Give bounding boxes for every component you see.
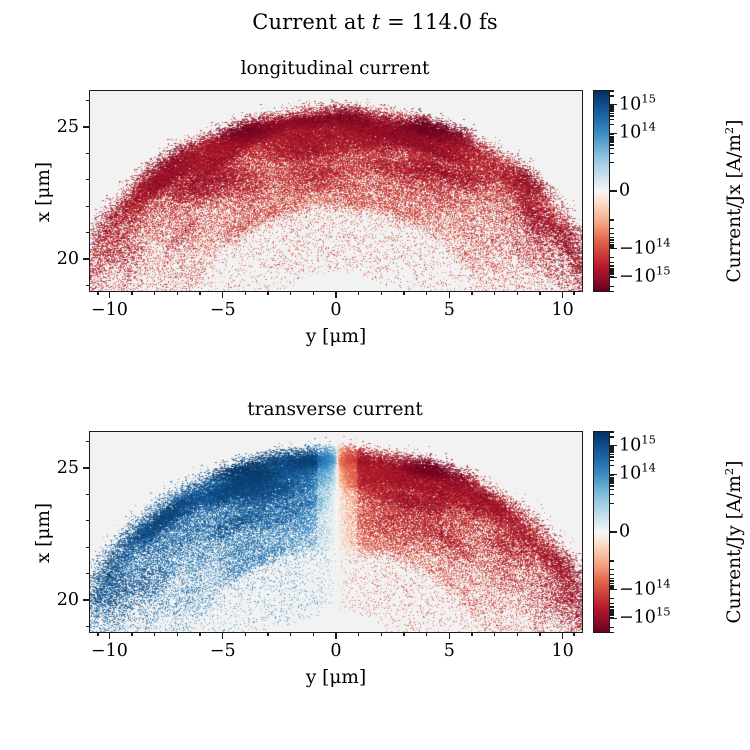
colorbar-tick-minor — [610, 107, 614, 108]
xtick-minor — [539, 292, 540, 295]
colorbar-tick-minor — [610, 291, 614, 292]
colorbar-tick-minor — [610, 480, 614, 481]
xtick-minor — [426, 292, 427, 295]
colorbar-tick-minor — [610, 436, 614, 437]
figure-canvas: Current at t = 114.0 fs longitudinal cur… — [0, 0, 750, 750]
colorbar-tick-major — [610, 589, 617, 590]
yaxis-label-longitudinal: x [μm] — [33, 132, 55, 252]
colorbar-tick-minor — [610, 162, 614, 163]
xtick-minor — [313, 292, 314, 295]
colorbar-tick-minor — [610, 446, 614, 447]
colorbar-tick-minor — [610, 489, 614, 490]
colorbar-longitudinal[interactable] — [593, 90, 610, 292]
xtick-minor — [426, 633, 427, 636]
colorbar-tick-minor — [610, 485, 614, 486]
colorbar-tick-minor — [610, 606, 614, 607]
xtick-minor — [131, 633, 132, 636]
colorbar-tick-minor — [610, 105, 614, 106]
xtick-major — [449, 292, 450, 298]
xtick-minor — [358, 633, 359, 636]
colorbar-tick-minor — [610, 144, 614, 145]
xtick-label: 5 — [444, 641, 455, 661]
xtick-label: −10 — [91, 641, 128, 661]
xtick-minor — [290, 292, 291, 295]
xaxis-label-longitudinal: y [μm] — [89, 326, 583, 348]
colorbar-tick-minor — [610, 477, 614, 478]
xtick-minor — [573, 633, 574, 636]
colorbar-tick-minor — [610, 137, 614, 138]
colorbar-tick-minor — [610, 139, 614, 140]
xtick-minor — [403, 633, 404, 636]
colorbar-tick-minor — [610, 239, 614, 240]
ytick-major — [83, 126, 89, 127]
xtick-minor — [154, 633, 155, 636]
colorbar-tick-minor — [610, 580, 614, 581]
colorbar-tick-minor — [610, 247, 614, 248]
ytick-minor — [86, 494, 89, 495]
colorbar-tick-label: 0 — [619, 182, 630, 201]
xtick-minor — [573, 292, 574, 295]
xtick-minor — [494, 633, 495, 636]
colorbar-tick-minor — [610, 482, 614, 483]
xtick-major — [562, 292, 563, 298]
colorbar-tick-label: −1015 — [619, 609, 671, 628]
xtick-major — [562, 633, 563, 639]
colorbar-tick-minor — [610, 578, 614, 579]
colorbar-tick-minor — [610, 90, 614, 91]
xtick-minor — [267, 633, 268, 636]
ytick-minor — [86, 547, 89, 548]
xtick-major — [109, 633, 110, 639]
xtick-minor — [131, 292, 132, 295]
colorbar-tick-minor — [610, 569, 614, 570]
xtick-label: 0 — [330, 641, 341, 661]
colorbar-tick-minor — [610, 598, 614, 599]
colorbar-tick-minor — [610, 456, 614, 457]
ytick-major — [83, 467, 89, 468]
xtick-minor — [177, 292, 178, 295]
xtick-label: −10 — [91, 300, 128, 320]
xtick-major — [335, 292, 336, 298]
colorbar-tick-major — [610, 248, 617, 249]
plot-area-transverse[interactable] — [89, 431, 583, 633]
panel-title-transverse: transverse current — [85, 399, 585, 421]
colorbar-tick-minor — [610, 465, 614, 466]
colorbar-tick-label: 1014 — [619, 124, 656, 143]
colorbar-tick-minor — [610, 228, 614, 229]
colorbar-tick-minor — [610, 257, 614, 258]
xtick-minor — [517, 633, 518, 636]
colorbar-tick-major — [610, 277, 617, 278]
ytick-minor — [86, 100, 89, 101]
xtick-minor — [381, 292, 382, 295]
colorbar-tick-label: 1015 — [619, 436, 656, 455]
colorbar-tick-label: 1014 — [619, 465, 656, 484]
colorbar-tick-major — [610, 190, 617, 191]
panel-title-longitudinal: longitudinal current — [85, 58, 585, 80]
colorbar-tick-label: −1015 — [619, 268, 671, 287]
xtick-minor — [154, 292, 155, 295]
colorbar-tick-minor — [610, 632, 614, 633]
xtick-label: −5 — [210, 300, 236, 320]
colorbar-tick-minor — [610, 431, 614, 432]
xtick-major — [449, 633, 450, 639]
colorbar-label-transverse: Current/Jy [A/m2] — [725, 447, 745, 637]
xtick-minor — [245, 292, 246, 295]
xtick-minor — [381, 633, 382, 636]
xtick-minor — [97, 633, 98, 636]
colorbar-tick-minor — [610, 141, 614, 142]
colorbar-tick-minor — [610, 95, 614, 96]
colorbar-tick-minor — [610, 265, 614, 266]
xtick-minor — [290, 633, 291, 636]
colorbar-tick-minor — [610, 617, 614, 618]
ytick-minor — [86, 285, 89, 286]
xtick-minor — [97, 292, 98, 295]
colorbar-tick-minor — [610, 219, 614, 220]
xtick-major — [222, 292, 223, 298]
xtick-minor — [358, 292, 359, 295]
colorbar-tick-minor — [610, 475, 614, 476]
xtick-label: 10 — [551, 641, 573, 661]
colorbar-tick-minor — [610, 115, 614, 116]
xtick-label: −5 — [210, 641, 236, 661]
colorbar-tick-label: −1014 — [619, 239, 671, 258]
colorbar-tick-minor — [610, 588, 614, 589]
colorbar-tick-minor — [610, 454, 614, 455]
colorbar-tick-minor — [610, 609, 614, 610]
xtick-minor — [177, 633, 178, 636]
suptitle-suffix: = 114.0 fs — [380, 10, 497, 34]
colorbar-label-longitudinal: Current/Jx [A/m2] — [725, 106, 745, 296]
ytick-minor — [86, 520, 89, 521]
colorbar-tick-minor — [610, 560, 614, 561]
ytick-minor — [86, 179, 89, 180]
xtick-minor — [471, 633, 472, 636]
colorbar-tick-minor — [610, 449, 614, 450]
ytick-minor — [86, 573, 89, 574]
colorbar-tick-label: 0 — [619, 523, 630, 542]
colorbar-tick-minor — [610, 451, 614, 452]
ytick-major — [83, 258, 89, 259]
colorbar-tick-minor — [610, 110, 614, 111]
xtick-minor — [245, 633, 246, 636]
xtick-minor — [267, 292, 268, 295]
colorbar-tick-minor — [610, 627, 614, 628]
xtick-minor — [403, 292, 404, 295]
plot-area-longitudinal[interactable] — [89, 90, 583, 292]
colorbar-tick-minor — [610, 262, 614, 263]
colorbar-tick-minor — [610, 460, 614, 461]
colorbar-tick-minor — [610, 494, 614, 495]
ytick-minor — [86, 206, 89, 207]
colorbar-tick-minor — [610, 148, 614, 149]
colorbar-tick-minor — [610, 237, 614, 238]
colorbar-tick-label: −1014 — [619, 580, 671, 599]
xaxis-label-transverse: y [μm] — [89, 667, 583, 689]
xtick-minor — [494, 292, 495, 295]
ytick-major — [83, 599, 89, 600]
xtick-minor — [199, 633, 200, 636]
colorbar-tick-minor — [610, 113, 614, 114]
xtick-minor — [199, 292, 200, 295]
colorbar-tick-minor — [610, 603, 614, 604]
colorbar-tick-label: 1015 — [619, 95, 656, 114]
colorbar-tick-minor — [610, 503, 614, 504]
colorbar-tick-major — [610, 531, 617, 532]
ytick-minor — [86, 626, 89, 627]
colorbar-tick-minor — [610, 233, 614, 234]
xtick-minor — [539, 633, 540, 636]
xtick-label: 10 — [551, 300, 573, 320]
colorbar-transverse[interactable] — [593, 431, 610, 633]
colorbar-tick-minor — [610, 119, 614, 120]
colorbar-tick-minor — [610, 448, 614, 449]
xtick-label: 5 — [444, 300, 455, 320]
colorbar-tick-minor — [610, 136, 614, 137]
colorbar-tick-minor — [610, 153, 614, 154]
colorbar-tick-minor — [610, 478, 614, 479]
colorbar-tick-minor — [610, 286, 614, 287]
xtick-major — [335, 633, 336, 639]
colorbar-tick-minor — [610, 574, 614, 575]
colorbar-tick-minor — [610, 276, 614, 277]
suptitle-prefix: Current at — [252, 10, 371, 34]
xtick-major — [222, 633, 223, 639]
colorbar-tick-minor — [610, 134, 614, 135]
xtick-minor — [517, 292, 518, 295]
xtick-major — [109, 292, 110, 298]
figure-suptitle: Current at t = 114.0 fs — [0, 8, 750, 36]
ytick-minor — [86, 232, 89, 233]
yaxis-label-transverse: x [μm] — [33, 473, 55, 593]
ytick-minor — [86, 153, 89, 154]
ytick-minor — [86, 441, 89, 442]
xtick-minor — [471, 292, 472, 295]
colorbar-tick-minor — [610, 268, 614, 269]
colorbar-tick-minor — [610, 124, 614, 125]
colorbar-tick-minor — [610, 108, 614, 109]
xtick-label: 0 — [330, 300, 341, 320]
colorbar-tick-major — [610, 618, 617, 619]
xtick-minor — [313, 633, 314, 636]
